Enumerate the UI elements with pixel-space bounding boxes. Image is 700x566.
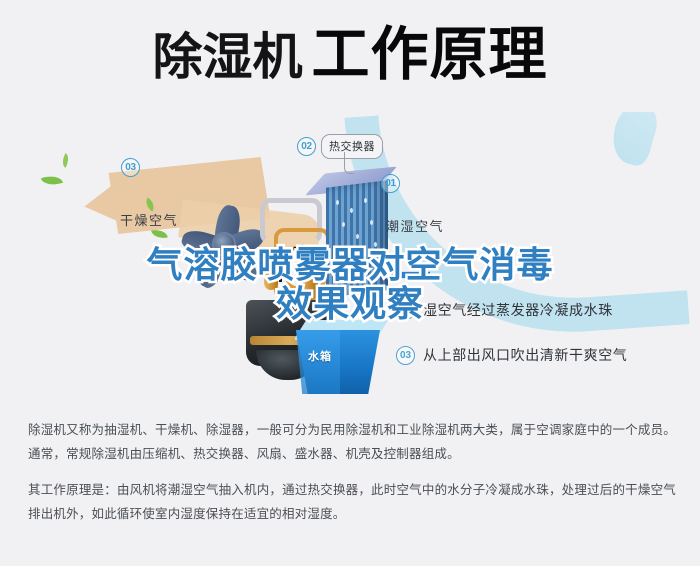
heat-exchanger-callout-tail [344, 152, 354, 174]
flow-arrow-stem [279, 268, 282, 282]
flow-arrow-stem [292, 247, 304, 250]
page-title-part-a: 除湿机 [152, 29, 302, 85]
step-text: 湿空气经过蒸发器冷凝成水珠 [423, 300, 613, 320]
leaf-icon [41, 172, 63, 189]
body-paragraph-2: 其工作原理是：由风机将潮湿空气抽入机内，通过热交换器，此时空气中的水分子冷凝成水… [28, 478, 676, 527]
fan-hub [212, 232, 236, 256]
condensation-droplets [330, 192, 386, 288]
dry-air-label: 干燥空气 [120, 210, 178, 229]
leaf-icon [151, 228, 168, 241]
page-title: 除湿机工作原理 [0, 26, 700, 84]
body-copy: 除湿机又称为抽湿机、干燥机、除湿器，一般可分为民用除湿机和工业除湿机两大类，属于… [28, 418, 676, 527]
badge-heat-exchanger: 02 [297, 137, 316, 156]
step-item: 03 从上部出风口吹出清新干爽空气 [396, 345, 627, 365]
leaf-icon [59, 153, 71, 168]
water-tank-label: 水箱 [308, 348, 332, 364]
page-title-part-b: 工作原理 [311, 22, 547, 87]
badge-humid-air: 01 [381, 174, 400, 193]
dehumidifier-diagram: 水箱 03 02 01 热交换器 干燥空气 潮湿空气 02 湿空气经过蒸发器冷凝… [0, 112, 700, 410]
humid-air-label: 潮湿空气 [386, 216, 444, 235]
step-item: 02 湿空气经过蒸发器冷凝成水珠 [396, 300, 627, 320]
step-text: 从上部出风口吹出清新干爽空气 [423, 345, 627, 365]
step-list: 02 湿空气经过蒸发器冷凝成水珠 03 从上部出风口吹出清新干爽空气 [396, 300, 627, 390]
page-root: 除湿机工作原理 [0, 0, 700, 566]
step-number-badge: 02 [396, 301, 415, 320]
step-number-badge: 03 [396, 346, 415, 365]
body-paragraph-1: 除湿机又称为抽湿机、干燥机、除湿器，一般可分为民用除湿机和工业除湿机两大类，属于… [28, 418, 676, 467]
badge-dry-air: 03 [121, 158, 140, 177]
receiver-cylinder [302, 266, 318, 300]
